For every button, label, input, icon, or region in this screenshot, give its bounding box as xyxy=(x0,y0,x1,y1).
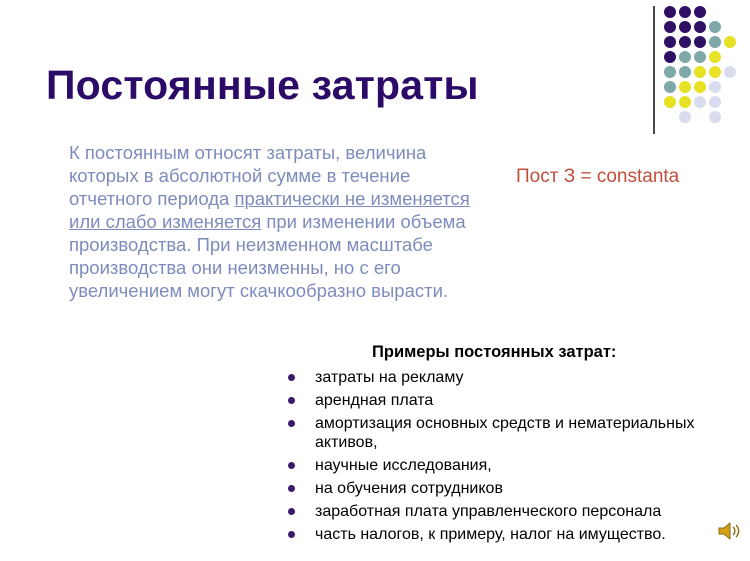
examples-list: затраты на рекламу арендная плата аморти… xyxy=(283,368,743,548)
bullet-icon xyxy=(288,485,295,492)
decor-dot xyxy=(694,51,706,63)
decor-dot xyxy=(709,21,721,33)
slide-canvas: Постоянные затраты К постоянным относят … xyxy=(0,0,750,561)
bullet-icon xyxy=(288,374,295,381)
list-item: научные исследования, xyxy=(283,456,743,475)
decor-dot xyxy=(694,96,706,108)
speaker-icon[interactable] xyxy=(716,519,742,543)
decor-dot xyxy=(664,96,676,108)
bullet-icon xyxy=(288,508,295,515)
decor-dot xyxy=(709,81,721,93)
decor-dot xyxy=(679,21,691,33)
decor-dot xyxy=(709,66,721,78)
list-item: амортизация основных средств и нематериа… xyxy=(283,414,743,452)
list-item-label: на обучения сотрудников xyxy=(315,480,503,497)
decorative-dot-grid xyxy=(664,6,750,134)
decor-dot xyxy=(709,36,721,48)
decor-dot xyxy=(664,66,676,78)
decor-dot xyxy=(724,66,736,78)
decor-dot xyxy=(694,21,706,33)
examples-heading: Примеры постоянных затрат: xyxy=(372,343,616,362)
decor-dot xyxy=(694,6,706,18)
decor-dot xyxy=(679,36,691,48)
list-item: затраты на рекламу xyxy=(283,368,743,387)
decor-dot xyxy=(679,6,691,18)
bullet-icon xyxy=(288,397,295,404)
decor-dot xyxy=(664,21,676,33)
list-item-label: затраты на рекламу xyxy=(315,369,464,386)
list-item: на обучения сотрудников xyxy=(283,479,743,498)
decor-dot xyxy=(664,51,676,63)
list-item-label: заработная плата управленческого персона… xyxy=(315,503,661,520)
decor-dot xyxy=(694,81,706,93)
decor-dot xyxy=(694,66,706,78)
vertical-divider xyxy=(653,6,655,134)
decor-dot xyxy=(679,51,691,63)
bullet-icon xyxy=(288,531,295,538)
decor-dot xyxy=(709,111,721,123)
decor-dot xyxy=(679,66,691,78)
decor-dot xyxy=(724,36,736,48)
decor-dot xyxy=(664,81,676,93)
list-item-label: арендная плата xyxy=(315,392,433,409)
decor-dot xyxy=(709,51,721,63)
body-paragraph: К постоянным относят затраты, величина к… xyxy=(69,141,489,302)
decor-dot xyxy=(694,36,706,48)
decor-dot xyxy=(664,36,676,48)
list-item-label: амортизация основных средств и нематериа… xyxy=(315,415,694,451)
list-item-label: часть налогов, к примеру, налог на имуще… xyxy=(315,526,666,543)
formula-callout: Пост З = constanta xyxy=(516,166,679,188)
decor-dot xyxy=(664,6,676,18)
decor-dot xyxy=(679,111,691,123)
list-item-label: научные исследования, xyxy=(315,457,492,474)
decor-dot xyxy=(709,96,721,108)
page-title: Постоянные затраты xyxy=(46,62,479,109)
decor-dot xyxy=(679,81,691,93)
bullet-icon xyxy=(288,462,295,469)
list-item: заработная плата управленческого персона… xyxy=(283,502,743,521)
bullet-icon xyxy=(288,420,295,427)
list-item: арендная плата xyxy=(283,391,743,410)
decor-dot xyxy=(679,96,691,108)
list-item: часть налогов, к примеру, налог на имуще… xyxy=(283,525,743,544)
